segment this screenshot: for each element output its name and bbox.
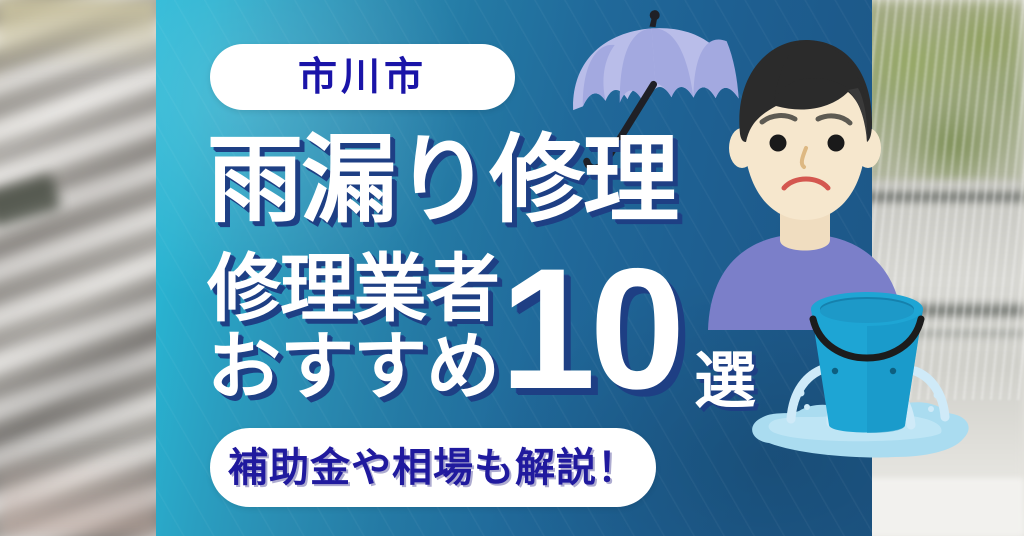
- subtitle-line-1: 修理業者: [207, 252, 499, 326]
- city-name-label: 市川市: [298, 58, 427, 97]
- banner-image: 市川市 雨漏り修理 修理業者 おすすめ 10 選 補助金や相場も解説！: [0, 0, 1024, 536]
- subtitle-line-2: おすすめ: [207, 330, 499, 404]
- city-name-pill: 市川市: [210, 44, 515, 110]
- leaking-bucket-illustration: [745, 275, 990, 490]
- note-label: 補助金や相場も解説！: [228, 448, 638, 488]
- page-title: 雨漏り修理: [207, 132, 677, 228]
- note-pill: 補助金や相場も解説！: [210, 428, 656, 507]
- roof-tile-top-highlight: [0, 0, 157, 70]
- count-unit: 選: [694, 350, 756, 412]
- left-roof-tiles-photo: [0, 0, 157, 536]
- count-number: 10: [500, 243, 679, 415]
- roof-tile-bottom-shadow: [0, 446, 157, 536]
